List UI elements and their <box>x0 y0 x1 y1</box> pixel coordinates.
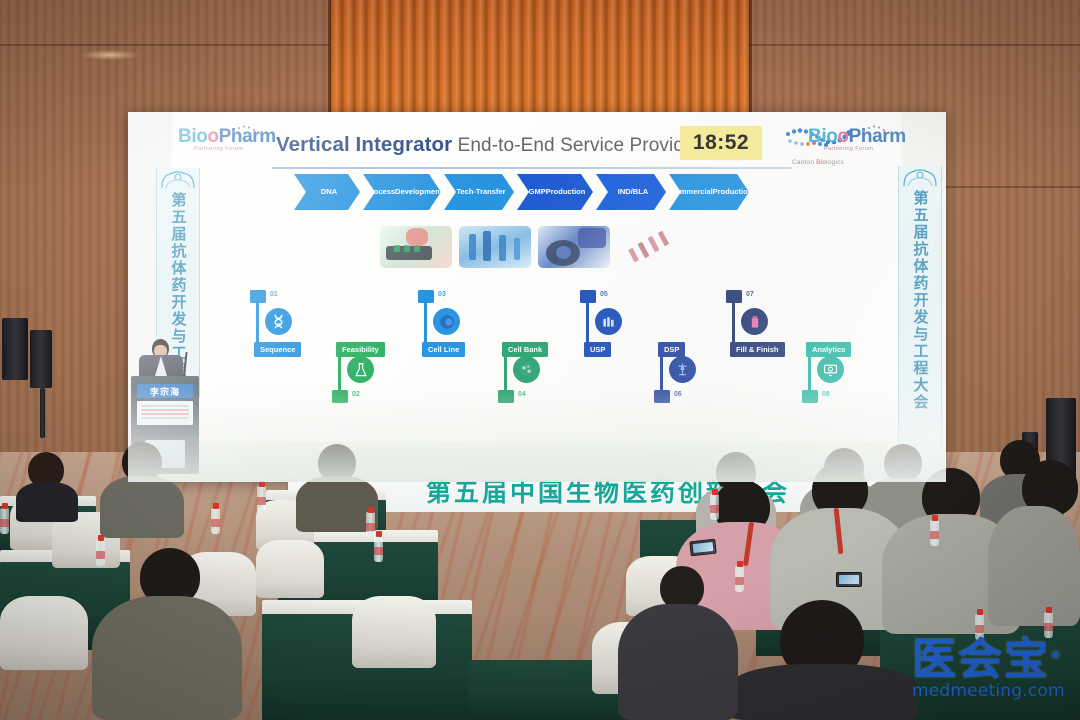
banner-ornament-icon-left <box>158 168 198 190</box>
slide-header: BiooPharm Partnering Forum Vertical Inte… <box>172 120 902 166</box>
pa-speaker-left-lower <box>30 330 52 388</box>
flow-step-4: GMPProduction <box>517 174 593 210</box>
audience-body-12 <box>988 506 1080 626</box>
timeline-number-2: 02 <box>352 391 360 398</box>
water-bottle-7 <box>710 494 719 520</box>
timer-value: 18:52 <box>693 131 749 155</box>
canton-name-accent: Bio <box>816 159 826 166</box>
flow-step-6-line-1: Commercial <box>670 188 713 197</box>
countdown-timer: 18:52 <box>680 126 762 160</box>
process-flow-chevrons: DNAProcessDevelopmentTech-TransferGMPPro… <box>294 174 752 210</box>
audience-body-4 <box>92 596 242 720</box>
water-bottle-11 <box>735 566 744 592</box>
podium-speaker-nameplate: 李宗海 <box>137 384 193 398</box>
water-bottle-5 <box>374 536 383 562</box>
watermark-url: medmeeting.com <box>912 681 1072 701</box>
banner-right-text: 第五届抗体药开发与工程大会 <box>913 190 928 411</box>
vial-icon <box>741 308 768 335</box>
flow-step-5-line-1: IND/BLA <box>618 188 648 197</box>
bioreactor-photo <box>459 226 531 268</box>
timeline-marker-square-2 <box>332 390 348 403</box>
flow-step-3-line-1: Tech- <box>456 188 475 197</box>
pa-speaker-left-stand <box>40 388 45 438</box>
banner-right: 第五届抗体药开发与工程大会 <box>898 166 942 451</box>
centrifuge-photo <box>538 226 610 268</box>
slide-title-rest: End-to-End Service Provider <box>458 135 701 156</box>
podium-line-4 <box>141 417 189 419</box>
podium-line-2 <box>141 409 189 411</box>
flow-step-3: Tech-Transfer <box>444 174 514 210</box>
biopharm-bio-text-right: Bio <box>808 126 837 147</box>
watermark-brand-text: 医会宝 <box>912 634 1050 685</box>
water-bottle-6 <box>0 508 9 534</box>
flow-step-2-line-2: Development <box>395 188 442 197</box>
podium-line-3 <box>141 413 189 415</box>
phone-recording-2 <box>689 539 716 557</box>
water-bottle-3 <box>257 486 266 512</box>
flow-step-1: DNA <box>294 174 360 210</box>
wall-panel-line-2 <box>749 44 1080 46</box>
vials-photo <box>617 226 689 268</box>
flow-step-4-line-1: GMP <box>529 188 546 197</box>
podium-line-1 <box>141 405 189 407</box>
chair-5 <box>256 540 324 598</box>
column-icon <box>669 356 696 383</box>
timeline-marker-square-4 <box>498 390 514 403</box>
flow-step-2: ProcessDevelopment <box>363 174 441 210</box>
biopharm-logo-left: BiooPharm Partnering Forum <box>178 126 264 160</box>
title-underline <box>272 167 792 169</box>
timeline-number-1: 01 <box>270 291 278 298</box>
flow-step-1-line-1: DNA <box>321 188 337 197</box>
flow-step-6-line-2: Production <box>713 188 753 197</box>
wall-uplight-glow <box>80 50 140 60</box>
dna-icon <box>265 308 292 335</box>
timeline-number-6: 06 <box>674 391 682 398</box>
lab-photo-thumbnails <box>380 226 689 268</box>
flow-step-4-line-2: Production <box>546 188 586 197</box>
timeline-label-4: Cell Bank <box>502 342 548 357</box>
flow-step-5: IND/BLA <box>596 174 666 210</box>
slide-title-bold: Vertical Integrator <box>276 133 452 156</box>
banner-ornament-icon-right <box>900 166 940 188</box>
biopharm-sparkle-icon-left <box>230 124 260 134</box>
timeline-label-3: Cell Line <box>422 342 465 357</box>
flow-step-2-line-1: Process <box>366 188 395 197</box>
watermark-registered-mark: ® <box>1050 648 1063 661</box>
timeline-marker-square-8 <box>802 390 818 403</box>
timeline-number-8: 08 <box>822 391 830 398</box>
canton-name-prefix: Canton <box>792 159 816 166</box>
timeline-number-3: 03 <box>438 291 446 298</box>
timeline-number-4: 04 <box>518 391 526 398</box>
cell-bank-icon <box>513 356 540 383</box>
timeline-label-8: Analytics <box>806 342 851 357</box>
presentation-slide: BiooPharm Partnering Forum Vertical Inte… <box>172 112 902 442</box>
slide-title: Vertical Integrator End-to-End Service P… <box>276 133 701 157</box>
pipetting-photo <box>380 226 452 268</box>
biopharm-o-dot-right: o <box>837 126 848 147</box>
watermark-brand: 医会宝® <box>912 640 1072 680</box>
flask-icon <box>347 356 374 383</box>
water-bottle-4 <box>366 512 375 538</box>
watermark: 医会宝® medmeeting.com <box>912 640 1072 701</box>
pa-speaker-left-upper <box>2 318 28 380</box>
bioreactor-icon <box>595 308 622 335</box>
water-bottle-1 <box>96 540 105 566</box>
audience-body-2 <box>100 476 184 538</box>
podium-subtitle-panel <box>137 401 193 425</box>
canton-biologics-wordmark: Canton Biologics <box>772 159 864 166</box>
water-bottle-2 <box>211 508 220 534</box>
biopharm-logo-right: BiooPharm Partnering Forum <box>808 126 894 160</box>
timeline-label-2: Feasibility <box>336 342 385 357</box>
phone-recording-1 <box>836 572 862 587</box>
audience-head-7 <box>884 444 922 482</box>
canton-name-suffix: logics <box>826 159 844 166</box>
flow-step-6: CommercialProduction <box>669 174 749 210</box>
banner-left-text: 第五届抗体药开发与工程 <box>171 192 186 379</box>
conference-photo-scene: BiooPharm Partnering Forum Vertical Inte… <box>0 0 1080 720</box>
audience-body-13 <box>728 664 918 720</box>
timeline-label-5: USP <box>584 342 611 357</box>
audience-body-14 <box>618 604 738 720</box>
chair-6 <box>0 596 88 670</box>
flow-step-3-line-2: Transfer <box>476 188 506 197</box>
audience-body-1 <box>16 482 78 522</box>
service-timeline: 01Sequence02Feasibility03Cell Line04Cell… <box>246 290 856 412</box>
timeline-label-1: Sequence <box>254 342 301 357</box>
chair-7 <box>352 596 436 668</box>
timeline-number-5: 05 <box>600 291 608 298</box>
biopharm-o-dot-left: o <box>207 126 218 147</box>
biopharm-bio-text-left: Bio <box>178 126 207 147</box>
timeline-label-6: DSP <box>658 342 685 357</box>
timeline-label-7: Fill & Finish <box>730 342 785 357</box>
timeline-number-7: 07 <box>746 291 754 298</box>
biopharm-sparkle-icon-right <box>860 124 890 134</box>
timeline-marker-square-6 <box>654 390 670 403</box>
analytics-icon <box>817 356 844 383</box>
water-bottle-8 <box>930 520 939 546</box>
cell-icon <box>433 308 460 335</box>
wall-panel-line-1 <box>0 44 330 46</box>
